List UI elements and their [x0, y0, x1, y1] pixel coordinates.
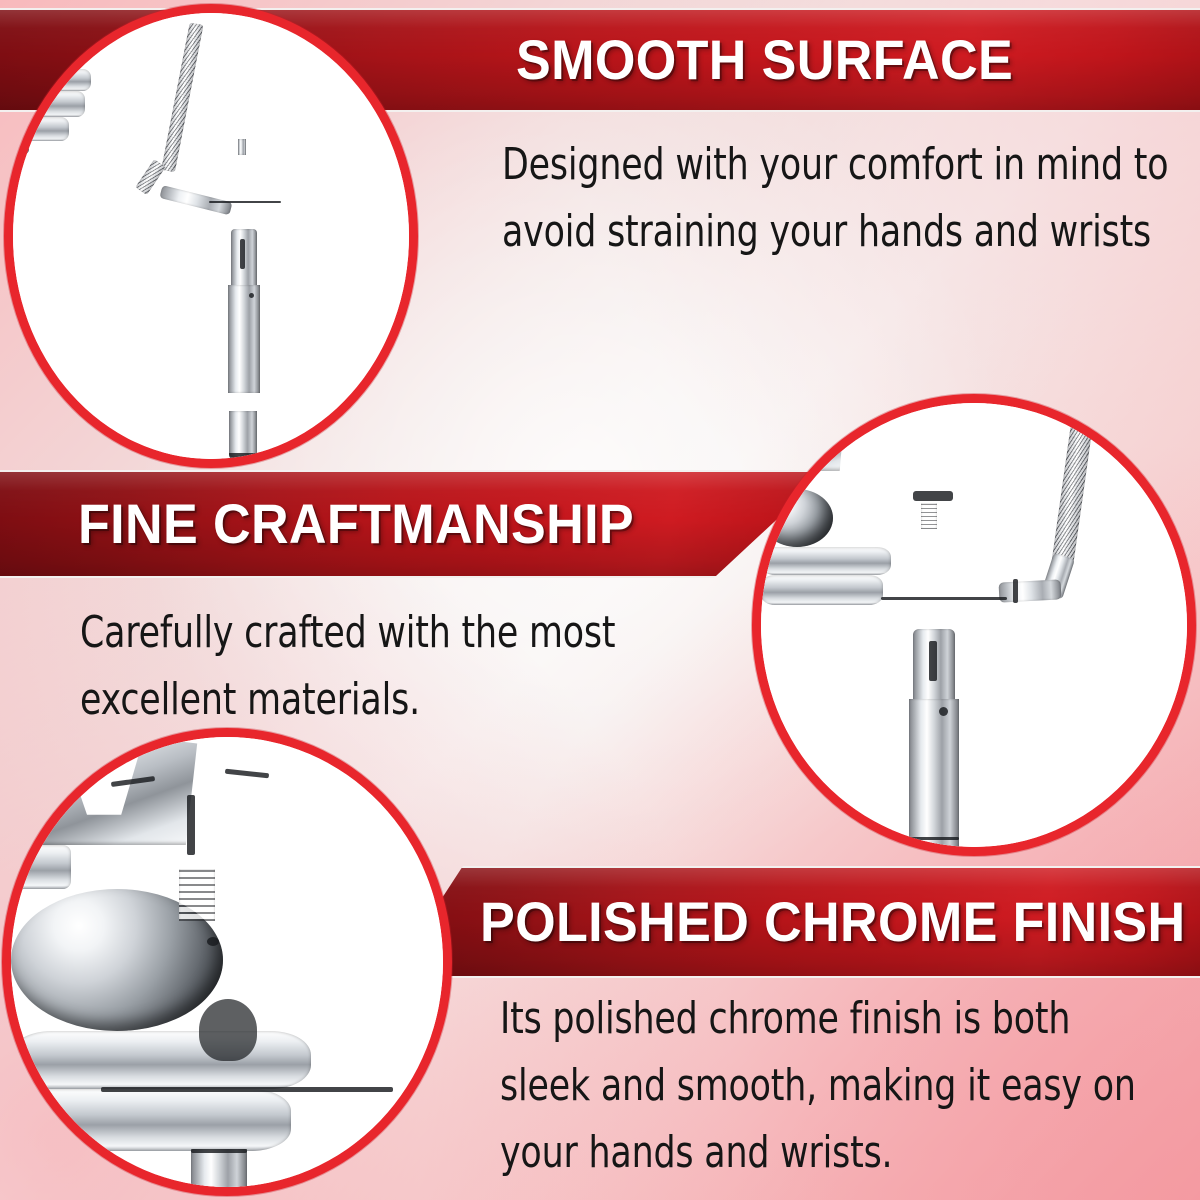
- threaded-screw-3: [179, 869, 215, 921]
- product-photo-smooth-surface: [4, 4, 418, 468]
- heading-banner-fine-craftmanship: FINE CRAFTMANSHIP: [0, 470, 830, 578]
- tube-slot-1: [240, 239, 245, 269]
- wing-nut-3: [11, 737, 201, 845]
- tilter-housing-upper-2: [761, 547, 891, 575]
- heading-text-polished-chrome-finish: POLISHED CHROME FINISH: [480, 894, 1186, 950]
- lower-clamp-collar-1: [13, 117, 69, 141]
- wing-nut-1: [13, 13, 59, 33]
- product-photo-polished-chrome-finish: [2, 728, 452, 1196]
- product-image-stage-2: [761, 403, 1187, 847]
- threaded-shaft-2: [921, 503, 937, 529]
- housing-seam-3: [101, 1087, 393, 1092]
- body-copy-smooth-surface: Designed with your comfort in mind to av…: [502, 132, 1171, 266]
- tilter-housing-lower-2: [761, 575, 883, 605]
- tilter-housing-collar-3: [11, 1031, 311, 1089]
- heading-banner-polished-chrome-finish: POLISHED CHROME FINISH: [390, 866, 1200, 978]
- wing-nut-crease-right-3: [225, 769, 269, 779]
- tilter-housing-lower-1: [13, 91, 85, 117]
- tilter-housing-1: [13, 69, 91, 91]
- wing-nut-center-slot-3: [187, 795, 195, 855]
- hex-nut-2: [761, 471, 791, 489]
- clamp-screw-1: [13, 141, 29, 156]
- body-copy-fine-craftmanship: Carefully crafted with the most excellen…: [80, 600, 749, 734]
- tube-hole-1: [249, 293, 254, 298]
- ball-joint-1: [13, 33, 57, 69]
- housing-seam-2: [881, 597, 1007, 600]
- body-copy-polished-chrome-finish: Its polished chrome finish is both sleek…: [500, 986, 1169, 1187]
- telescoping-tube-lower-2: [909, 699, 959, 856]
- wing-nut-shaft-1: [238, 139, 246, 155]
- hex-nut-3: [11, 845, 71, 889]
- boom-rod-horizontal-2: [999, 579, 1062, 602]
- heading-text-fine-craftmanship: FINE CRAFTMANSHIP: [78, 496, 634, 552]
- wing-nut-shadow-2: [913, 491, 953, 501]
- product-infographic-poster: SMOOTH SURFACE Designed with your comfor…: [0, 0, 1200, 1200]
- tube-bottom-edge-2: [909, 837, 959, 840]
- ball-joint-2: [761, 489, 833, 547]
- housing-seam-1: [209, 201, 281, 203]
- rubber-foot-1: [229, 453, 257, 459]
- tube-hole-2: [939, 707, 948, 716]
- product-image-stage-1: [13, 13, 409, 459]
- tube-stub-edge-3: [191, 1149, 247, 1153]
- tube-slot-2: [929, 641, 937, 681]
- product-photo-fine-craftmanship: [752, 394, 1196, 856]
- hex-nut-hole-3: [207, 937, 219, 946]
- telescoping-tube-lower-1: [228, 285, 260, 393]
- rod-collar-ring-2: [761, 403, 773, 431]
- tube-bottom-stub-1: [229, 411, 257, 457]
- boom-rod-upper-1: [161, 22, 203, 172]
- tube-stub-3: [191, 1149, 247, 1196]
- heading-text-smooth-surface: SMOOTH SURFACE: [516, 32, 1013, 88]
- boom-rod-vertical-2: [1051, 424, 1092, 566]
- wing-nut-2: [761, 431, 843, 471]
- product-image-stage-3: [11, 737, 443, 1187]
- tilter-housing-skirt-3: [11, 1089, 291, 1151]
- ball-reflection-dark-3: [199, 999, 257, 1061]
- rod-collar-gap-2: [1013, 579, 1018, 603]
